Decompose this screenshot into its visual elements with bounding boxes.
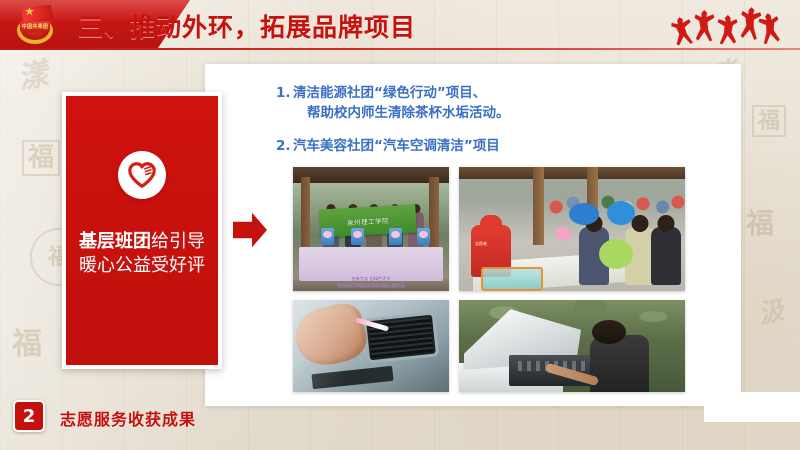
slide-number-badge: 2 xyxy=(13,400,45,432)
slide-root: 福 福 福 福 福 漾 淼 汲 中国共青团 三、推动外环，拓展品牌项目 1. xyxy=(0,0,800,450)
person-silhouette-icon xyxy=(717,14,739,44)
bullet-text-line: 帮助校内师生清除茶杯水垢活动。 xyxy=(293,104,716,124)
bullet-number: 1. xyxy=(276,84,293,123)
person-silhouette-icon xyxy=(757,11,783,45)
background-fu-glyph: 福 xyxy=(12,330,42,360)
jumping-people-silhouettes xyxy=(670,3,782,47)
volunteer-vest-text: 志愿者 xyxy=(475,241,487,247)
background-brush-mark: 漾 xyxy=(15,59,51,95)
footer-white-block xyxy=(704,392,800,422)
photo-green-action-students: 泉州理工学院 变废为宝 创绿色大学 泉州理工学院清洁能源社团公益行动 xyxy=(293,167,449,291)
feature-card-text: 基层班团给引导 暖心公益受好评 xyxy=(66,230,218,279)
photo-car-ac-vent-cleaning xyxy=(293,300,449,392)
communist-youth-league-emblem: 中国共青团 xyxy=(13,4,57,46)
heart-hand-icon xyxy=(118,151,166,199)
photo-caption: 变废为宝 创绿色大学 泉州理工学院清洁能源社团公益行动 xyxy=(293,276,449,291)
photo-car-engine-service xyxy=(459,300,685,392)
bullet-text-line: 清洁能源社团“绿色行动”项目、 xyxy=(293,84,716,104)
feature-card-line-2: 暖心公益受好评 xyxy=(66,254,218,278)
background-brush-mark: 汲 xyxy=(756,298,787,329)
emblem-band-label: 中国共青团 xyxy=(20,21,50,32)
photo-caption-line-2: 泉州理工学院清洁能源社团公益行动 xyxy=(293,283,449,289)
feature-card-emphasis: 基层班团 xyxy=(79,231,151,252)
background-fu-glyph: 福 xyxy=(746,210,774,238)
photo-volunteer-balloon-event: 志愿者 xyxy=(459,167,685,291)
person-silhouette-icon xyxy=(738,6,763,41)
background-fu-glyph: 福 xyxy=(22,140,60,176)
bullet-item: 2. 汽车美容社团“汽车空调清洁”项目 xyxy=(276,137,716,157)
background-fu-glyph: 福 xyxy=(752,105,786,137)
slide-header: 中国共青团 三、推动外环，拓展品牌项目 xyxy=(0,0,800,52)
person-silhouette-icon xyxy=(670,16,694,47)
feature-card: 基层班团给引导 暖心公益受好评 xyxy=(62,92,222,369)
feature-card-line-1-rest: 给引导 xyxy=(151,231,205,252)
bullet-list: 1. 清洁能源社团“绿色行动”项目、 帮助校内师生清除茶杯水垢活动。 2. 汽车… xyxy=(276,84,716,171)
feature-card-line-1: 基层班团给引导 xyxy=(66,230,218,254)
slide-title: 三、推动外环，拓展品牌项目 xyxy=(78,8,416,44)
bullet-text-line: 汽车美容社团“汽车空调清洁”项目 xyxy=(293,137,716,157)
person-silhouette-icon xyxy=(693,9,715,41)
footer-label: 志愿服务收获成果 xyxy=(60,406,196,430)
header-divider-line xyxy=(0,48,800,50)
bullet-number: 2. xyxy=(276,137,293,157)
bullet-item: 1. 清洁能源社团“绿色行动”项目、 帮助校内师生清除茶杯水垢活动。 xyxy=(276,84,716,123)
